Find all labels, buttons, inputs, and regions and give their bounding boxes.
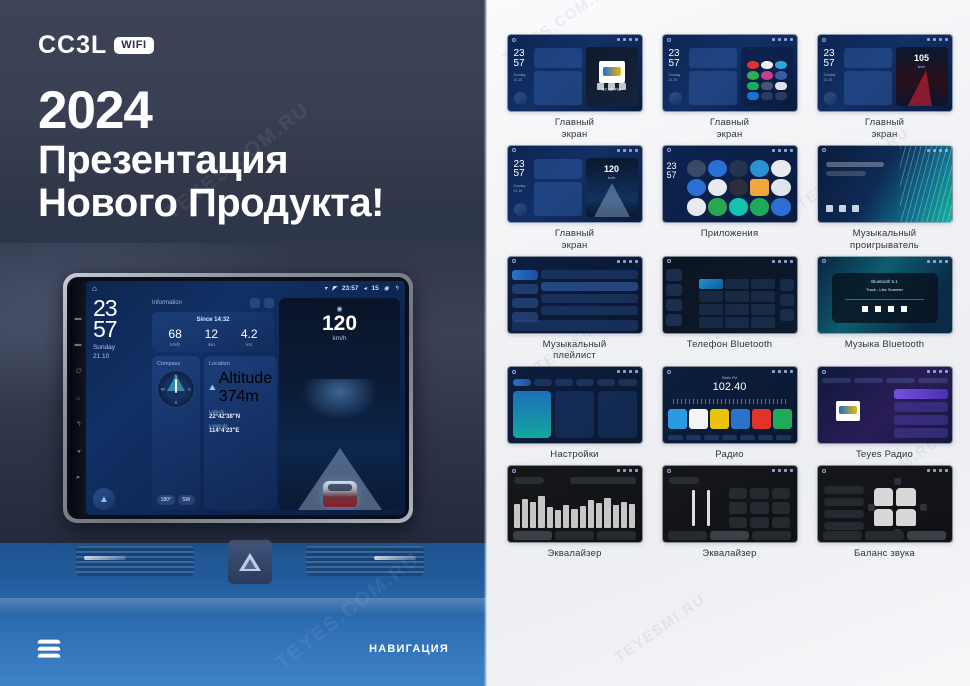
eq-title xyxy=(669,477,699,484)
thumbnail-caption: Радио xyxy=(715,449,743,461)
section-label: НАВИГАЦИЯ xyxy=(369,643,449,655)
screens-gallery: TEYES.COM.RU TEYESMI.RU TEYES.COM.RU TEY… xyxy=(487,0,970,686)
bt-playback-controls[interactable] xyxy=(862,306,907,312)
home-icon xyxy=(822,38,826,42)
home-icon xyxy=(667,259,671,263)
navigation-fab xyxy=(514,203,527,216)
compass-label: Compass xyxy=(157,361,195,367)
stat-unit: km/h xyxy=(168,342,181,347)
gallery-item[interactable]: Баланс звука xyxy=(811,465,958,560)
head-unit-device: ▬ ▬ ⏻ ⌂ ↰ ◂ ▸ ⌂ ▾ ◤ 23:57 ◂ xyxy=(63,273,413,523)
eq-tabs[interactable] xyxy=(668,531,792,540)
settings-icon[interactable] xyxy=(264,298,274,308)
thumbnail-caption: Музыкальныйпроигрыватель xyxy=(850,228,919,252)
compass-north: N xyxy=(175,373,178,378)
gallery-item[interactable]: 2357Sunday21.10 105 km/h Главныйэкран xyxy=(811,34,958,141)
thumbnail-caption: Настройки xyxy=(550,449,598,461)
home-icon xyxy=(822,259,826,263)
thumb-speed-unit: km/h xyxy=(586,176,638,180)
eq-preset-grid[interactable] xyxy=(729,488,791,528)
volume-icon: ◂ xyxy=(363,285,366,292)
home-icon xyxy=(667,38,671,42)
air-vent-left xyxy=(76,546,194,576)
bt-track-name: Track - Like Summer xyxy=(866,287,903,292)
gallery-item[interactable]: 2357Sunday21.10 97.50 FM Главныйэкран xyxy=(501,34,648,141)
mountain-icon: ⛰ xyxy=(209,383,216,393)
thumbnail-caption: Главныйэкран xyxy=(555,117,594,141)
hazard-light-button[interactable] xyxy=(228,540,272,584)
balance-left-arrow[interactable] xyxy=(868,504,875,511)
gallery-item[interactable]: Teyes Радио xyxy=(811,366,958,461)
location-label: Location xyxy=(209,361,272,367)
thumbnail-apps[interactable]: 2357 xyxy=(662,145,798,223)
speed-widget[interactable]: ◉ 120 km/h xyxy=(279,298,400,510)
thumbnail-caption: Главныйэкран xyxy=(865,117,904,141)
home-icon xyxy=(822,370,826,374)
home-icon xyxy=(512,469,516,473)
information-title: Information xyxy=(152,300,182,306)
location-card[interactable]: Location ⛰ Altitude 374m xyxy=(204,356,277,510)
head-unit-screen[interactable]: ⌂ ▾ ◤ 23:57 ◂ 15 ◉ ↰ 23 xyxy=(86,281,405,515)
thumbnail-caption: Приложения xyxy=(701,228,759,240)
dialpad[interactable] xyxy=(699,279,775,328)
hero-panel: TEYES.COM.RU TEYESMI.RU TEYES.COM.RU CC3… xyxy=(0,0,487,686)
thumbnail-equalizer-bands[interactable] xyxy=(507,465,643,543)
gallery-item[interactable]: Настройки xyxy=(501,366,648,461)
thumbnail-home-media[interactable]: 2357Sunday21.10 97.50 FM xyxy=(507,34,643,112)
compass-card[interactable]: Compass N S W E xyxy=(152,356,200,510)
thumbnail-caption: Баланс звука xyxy=(854,548,915,560)
waveform-visual xyxy=(900,146,952,222)
radio-tuner-scale[interactable] xyxy=(673,399,787,404)
radio-presets[interactable] xyxy=(668,409,792,429)
gallery-item[interactable]: Эквалайзер xyxy=(656,465,803,560)
watermark: TEYESMI.RU xyxy=(612,591,709,666)
plus-icon[interactable]: ▬ xyxy=(75,341,82,348)
home-icon xyxy=(822,148,826,152)
thumb-speed-value: 120 xyxy=(586,164,638,174)
console-gloss xyxy=(0,598,487,614)
refresh-icon[interactable] xyxy=(250,298,260,308)
balance-tabs[interactable] xyxy=(823,531,947,540)
compass-degrees: 180° xyxy=(157,495,175,505)
thumbnail-caption: Главныйэкран xyxy=(710,117,749,141)
air-vent-right xyxy=(306,546,424,576)
volume-up-icon[interactable]: ▸ xyxy=(76,474,80,481)
thumbnail-sound-balance[interactable] xyxy=(817,465,953,543)
status-bar: ⌂ ▾ ◤ 23:57 ◂ 15 ◉ ↰ xyxy=(86,281,405,296)
radio-toolbar[interactable] xyxy=(668,435,792,440)
trip-stat: 12 min xyxy=(205,328,218,347)
thumbnail-radio[interactable]: Radio FM 102.40 xyxy=(662,366,798,444)
thumbnail-caption: Эквалайзер xyxy=(702,548,756,560)
gallery-item[interactable]: Музыкальныйплейлист xyxy=(501,256,648,363)
track-title xyxy=(826,162,884,167)
hazard-triangle-icon xyxy=(239,553,261,571)
speed-widget: 105 km/h xyxy=(896,47,948,106)
home-icon xyxy=(667,370,671,374)
app-icon-grid[interactable] xyxy=(685,158,793,218)
gallery-item[interactable]: Музыкальныйпроигрыватель xyxy=(811,145,958,252)
home-icon[interactable]: ⌂ xyxy=(76,395,80,402)
thumbnail-playlist[interactable] xyxy=(507,256,643,334)
altitude-value: 374m xyxy=(219,388,272,406)
thumbnail-caption: Главныйэкран xyxy=(555,228,594,252)
page-title: 2024 Презентация Нового Продукта! xyxy=(38,82,384,226)
home-icon xyxy=(667,469,671,473)
stat-unit: km xyxy=(241,342,258,347)
compass-needle xyxy=(175,379,177,393)
compass-east: E xyxy=(188,387,191,392)
trip-since-label: Since 14:32 xyxy=(157,317,269,323)
navigation-fab xyxy=(514,92,527,105)
latitude-value: 22°42'38"N xyxy=(209,414,272,420)
gallery-item[interactable]: Эквалайзер xyxy=(501,465,648,560)
balance-presets[interactable] xyxy=(824,486,864,526)
playlist-rows[interactable] xyxy=(541,270,638,319)
minus-icon[interactable]: ▬ xyxy=(75,315,82,322)
eq-band-sliders[interactable] xyxy=(514,488,636,528)
back-icon[interactable]: ↰ xyxy=(75,421,81,428)
logo-model: CC3L xyxy=(38,33,107,58)
home-icon[interactable]: ⌂ xyxy=(92,284,97,293)
navigation-fab xyxy=(824,92,837,105)
gallery-item[interactable]: Bluetooth 5.1 Track - Like Summer Музыка… xyxy=(811,256,958,363)
altitude-key: Altitude xyxy=(219,370,272,388)
settings-tabs[interactable] xyxy=(513,379,637,386)
radio-band: Radio FM xyxy=(663,376,797,380)
car-model-3d xyxy=(323,481,357,507)
mini-player-bar[interactable] xyxy=(512,320,638,331)
gallery-item[interactable]: 2357Sunday21.10 120 km/h Главныйэкран xyxy=(501,145,648,252)
compass-west: W xyxy=(161,387,165,392)
wifi-badge: WIFI xyxy=(114,37,153,54)
thumbnail-caption: Музыкальныйплейлист xyxy=(543,339,607,363)
thumbnail-music-player[interactable] xyxy=(817,145,953,223)
stat-value: 4.2 xyxy=(241,328,258,340)
thumbnail-caption: Эквалайзер xyxy=(547,548,601,560)
gallery-item[interactable]: Radio FM 102.40 Радио xyxy=(656,366,803,461)
title-year: 2024 xyxy=(38,82,384,139)
chrome-trim-right xyxy=(374,556,416,560)
title-line-2: Нового Продукта! xyxy=(38,182,384,225)
settings-cards[interactable] xyxy=(513,391,637,438)
thumbnail-settings[interactable] xyxy=(507,366,643,444)
presentation-slide: TEYES.COM.RU TEYESMI.RU TEYES.COM.RU CC3… xyxy=(0,0,970,686)
wifi-icon: ◤ xyxy=(332,285,337,292)
thumbnail-caption: Музыка Bluetooth xyxy=(845,339,925,351)
thumbnail-home-speed-red[interactable]: 2357Sunday21.10 105 km/h xyxy=(817,34,953,112)
center-console xyxy=(0,520,487,686)
thumbnail-equalizer-dual[interactable] xyxy=(662,465,798,543)
seat-balance-grid[interactable] xyxy=(874,488,916,526)
clock-minutes: 57 xyxy=(93,319,147,340)
compass-south: S xyxy=(175,400,178,405)
navigation-fab[interactable]: ▲ xyxy=(93,488,115,510)
compass-direction: SW xyxy=(178,495,196,505)
gallery-item[interactable]: 2357Sunday21.10 Главныйэкран xyxy=(656,34,803,141)
stat-value: 12 xyxy=(205,328,218,340)
power-icon[interactable]: ⏻ xyxy=(75,368,81,375)
longitude-value: 114°4'23"E xyxy=(209,428,272,434)
title-line-1: Презентация xyxy=(38,139,384,182)
thumbnail-teyes-radio[interactable] xyxy=(817,366,953,444)
home-icon xyxy=(512,370,516,374)
volume-down-icon[interactable]: ◂ xyxy=(76,448,80,455)
chrome-trim-left xyxy=(84,556,126,560)
thumbnail-home-speed[interactable]: 2357Sunday21.10 120 km/h xyxy=(507,145,643,223)
stat-unit: min xyxy=(205,342,218,347)
status-volume: 15 xyxy=(371,285,378,292)
clock-date: 21.10 xyxy=(93,353,147,361)
home-icon xyxy=(512,38,516,42)
home-icon xyxy=(667,148,671,152)
back-arrow-icon[interactable]: ↰ xyxy=(394,285,399,292)
teyes-tabs[interactable] xyxy=(822,378,948,383)
hardware-button-rail[interactable]: ▬ ▬ ⏻ ⌂ ↰ ◂ ▸ xyxy=(70,281,86,515)
eq-preset-label xyxy=(514,477,544,484)
radio-frequency: 102.40 xyxy=(663,381,797,393)
screenshot-icon[interactable]: ◉ xyxy=(384,285,389,292)
trip-stat: 68 km/h xyxy=(168,328,181,347)
station-list[interactable] xyxy=(894,389,948,439)
playlist-sidebar[interactable] xyxy=(512,270,538,319)
thumb-speed-unit: km/h xyxy=(896,65,948,69)
eq-preset-buttons[interactable] xyxy=(570,477,636,484)
thumbnail-bt-music[interactable]: Bluetooth 5.1 Track - Like Summer xyxy=(817,256,953,334)
home-icon xyxy=(822,469,826,473)
navigation-fab xyxy=(669,92,682,105)
bluetooth-version: Bluetooth 5.1 xyxy=(871,279,898,284)
track-artist xyxy=(826,171,866,176)
wifi-icon: ▾ xyxy=(324,285,327,292)
trip-info-card[interactable]: Since 14:32 68 km/h 12 min xyxy=(152,312,274,352)
apps-widget xyxy=(741,47,793,106)
speed-value: 120 xyxy=(279,313,400,334)
album-art xyxy=(836,401,860,421)
gallery-item[interactable]: Телефон Bluetooth xyxy=(656,256,803,363)
status-time: 23:57 xyxy=(342,285,359,292)
playback-controls[interactable] xyxy=(826,205,859,212)
thumbnail-bt-phone[interactable] xyxy=(662,256,798,334)
product-logo: CC3L WIFI xyxy=(38,33,154,58)
eq-dual-sliders[interactable] xyxy=(677,490,725,526)
gallery-item[interactable]: 2357 Приложения xyxy=(656,145,803,252)
phone-actions[interactable] xyxy=(780,279,794,328)
speed-unit: km/h xyxy=(279,335,400,342)
clock-widget: 23 57 Sunday 21.10 ▲ xyxy=(93,298,147,510)
thumbnail-caption: Телефон Bluetooth xyxy=(687,339,773,351)
speed-widget: 120 km/h xyxy=(586,158,638,217)
home-icon xyxy=(512,148,516,152)
media-widget: 97.50 FM xyxy=(586,47,638,106)
phone-sidebar[interactable] xyxy=(666,269,682,329)
stat-value: 68 xyxy=(168,328,181,340)
hero-footer: НАВИГАЦИЯ xyxy=(38,639,449,658)
balance-up-arrow[interactable] xyxy=(894,478,901,485)
eq-tabs[interactable] xyxy=(513,531,637,540)
thumbnail-grid: 2357Sunday21.10 97.50 FM Главныйэкран 23… xyxy=(501,34,958,560)
thumbnail-caption: Teyes Радио xyxy=(856,449,913,461)
trip-stat: 4.2 km xyxy=(241,328,258,347)
clock-weekday: Sunday xyxy=(93,344,147,352)
thumb-speed-value: 105 xyxy=(896,53,948,63)
balance-right-arrow[interactable] xyxy=(920,504,927,511)
home-icon xyxy=(512,259,516,263)
thumbnail-home-apps[interactable]: 2357Sunday21.10 xyxy=(662,34,798,112)
compass-dial: N S W E xyxy=(157,370,195,408)
layers-icon xyxy=(38,639,60,658)
